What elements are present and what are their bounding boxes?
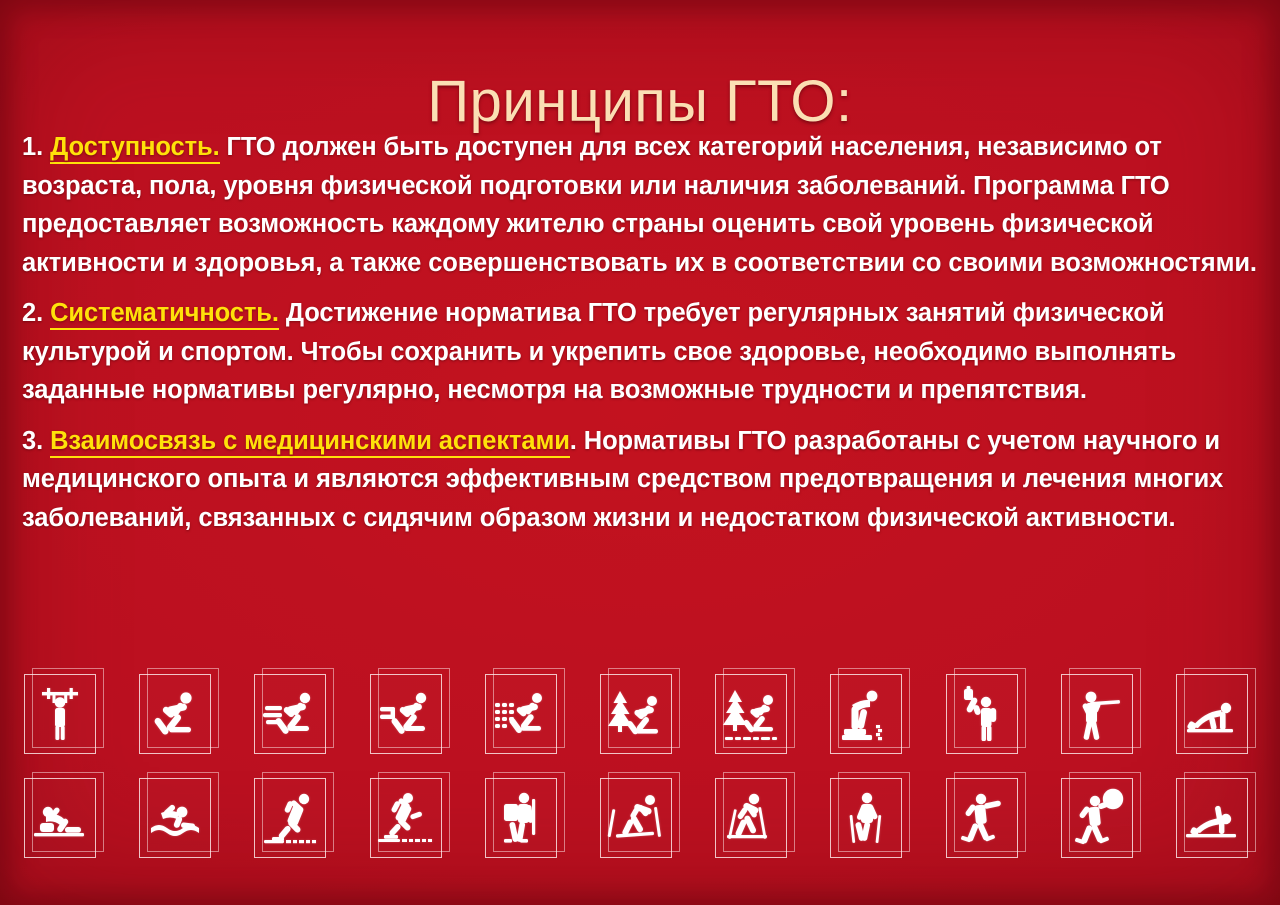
icon-cell	[946, 672, 1026, 758]
gto-discipline-icon-grid	[24, 672, 1256, 862]
cross-country-ski-icon	[600, 674, 672, 754]
principle-item-2: 2. Систематичность. Достижение норматива…	[22, 294, 1260, 410]
pull-up-icon	[24, 674, 96, 754]
grenade-throw-icon	[946, 674, 1018, 754]
rifle-shooting-icon	[1061, 674, 1133, 754]
icon-cell	[1061, 672, 1141, 758]
shot-put-icon	[946, 778, 1018, 858]
icon-cell	[600, 776, 680, 862]
discus-throw-icon	[1061, 778, 1133, 858]
long-jump-icon	[254, 778, 326, 858]
hiking-icon	[485, 778, 557, 858]
swimming-icon	[139, 778, 211, 858]
icon-cell	[946, 776, 1026, 862]
principle-number-3: 3.	[22, 427, 43, 455]
principles-list: 1. Доступность. ГТО должен быть доступен…	[22, 128, 1260, 545]
icon-cell	[600, 672, 680, 758]
icon-cell	[24, 776, 104, 862]
icon-cell	[254, 672, 334, 758]
jump-rope-icon	[370, 778, 442, 858]
principle-term-1: Доступность.	[50, 133, 219, 164]
icon-cell	[485, 672, 565, 758]
icon-cell	[139, 672, 219, 758]
ski-classic-icon	[715, 778, 787, 858]
icon-cell	[715, 776, 795, 862]
icon-cell	[1176, 672, 1256, 758]
push-up-icon	[1176, 674, 1248, 754]
running-shuttle-icon	[370, 674, 442, 754]
icon-cell	[139, 776, 219, 862]
plank-icon	[1176, 778, 1248, 858]
gto-principles-slide: Принципы ГТО: 1. Доступность. ГТО должен…	[0, 0, 1280, 905]
sit-up-icon	[24, 778, 96, 858]
sprint-start-icon	[485, 674, 557, 754]
icon-cell	[830, 672, 910, 758]
icon-row-2	[24, 776, 1256, 862]
running-icon	[139, 674, 211, 754]
icon-row-1	[24, 672, 1256, 758]
principle-item-1: 1. Доступность. ГТО должен быть доступен…	[22, 128, 1260, 282]
icon-cell	[1061, 776, 1141, 862]
icon-cell	[715, 672, 795, 758]
icon-cell	[370, 672, 450, 758]
nordic-walking-icon	[830, 778, 902, 858]
icon-cell	[24, 672, 104, 758]
page-title: Принципы ГТО:	[427, 73, 852, 131]
ski-race-icon	[600, 778, 672, 858]
principle-number-1: 1.	[22, 133, 43, 161]
principle-number-2: 2.	[22, 299, 43, 327]
icon-cell	[370, 776, 450, 862]
step-test-icon	[830, 674, 902, 754]
icon-cell	[830, 776, 910, 862]
principle-term-2: Систематичность.	[50, 299, 279, 330]
principle-term-3: Взаимосвязь с медицинскими аспектами	[50, 427, 570, 458]
principle-item-3: 3. Взаимосвязь с медицинскими аспектами.…	[22, 422, 1260, 538]
icon-cell	[485, 776, 565, 862]
icon-cell	[254, 776, 334, 862]
ski-forest-icon	[715, 674, 787, 754]
icon-cell	[1176, 776, 1256, 862]
running-speed-icon	[254, 674, 326, 754]
